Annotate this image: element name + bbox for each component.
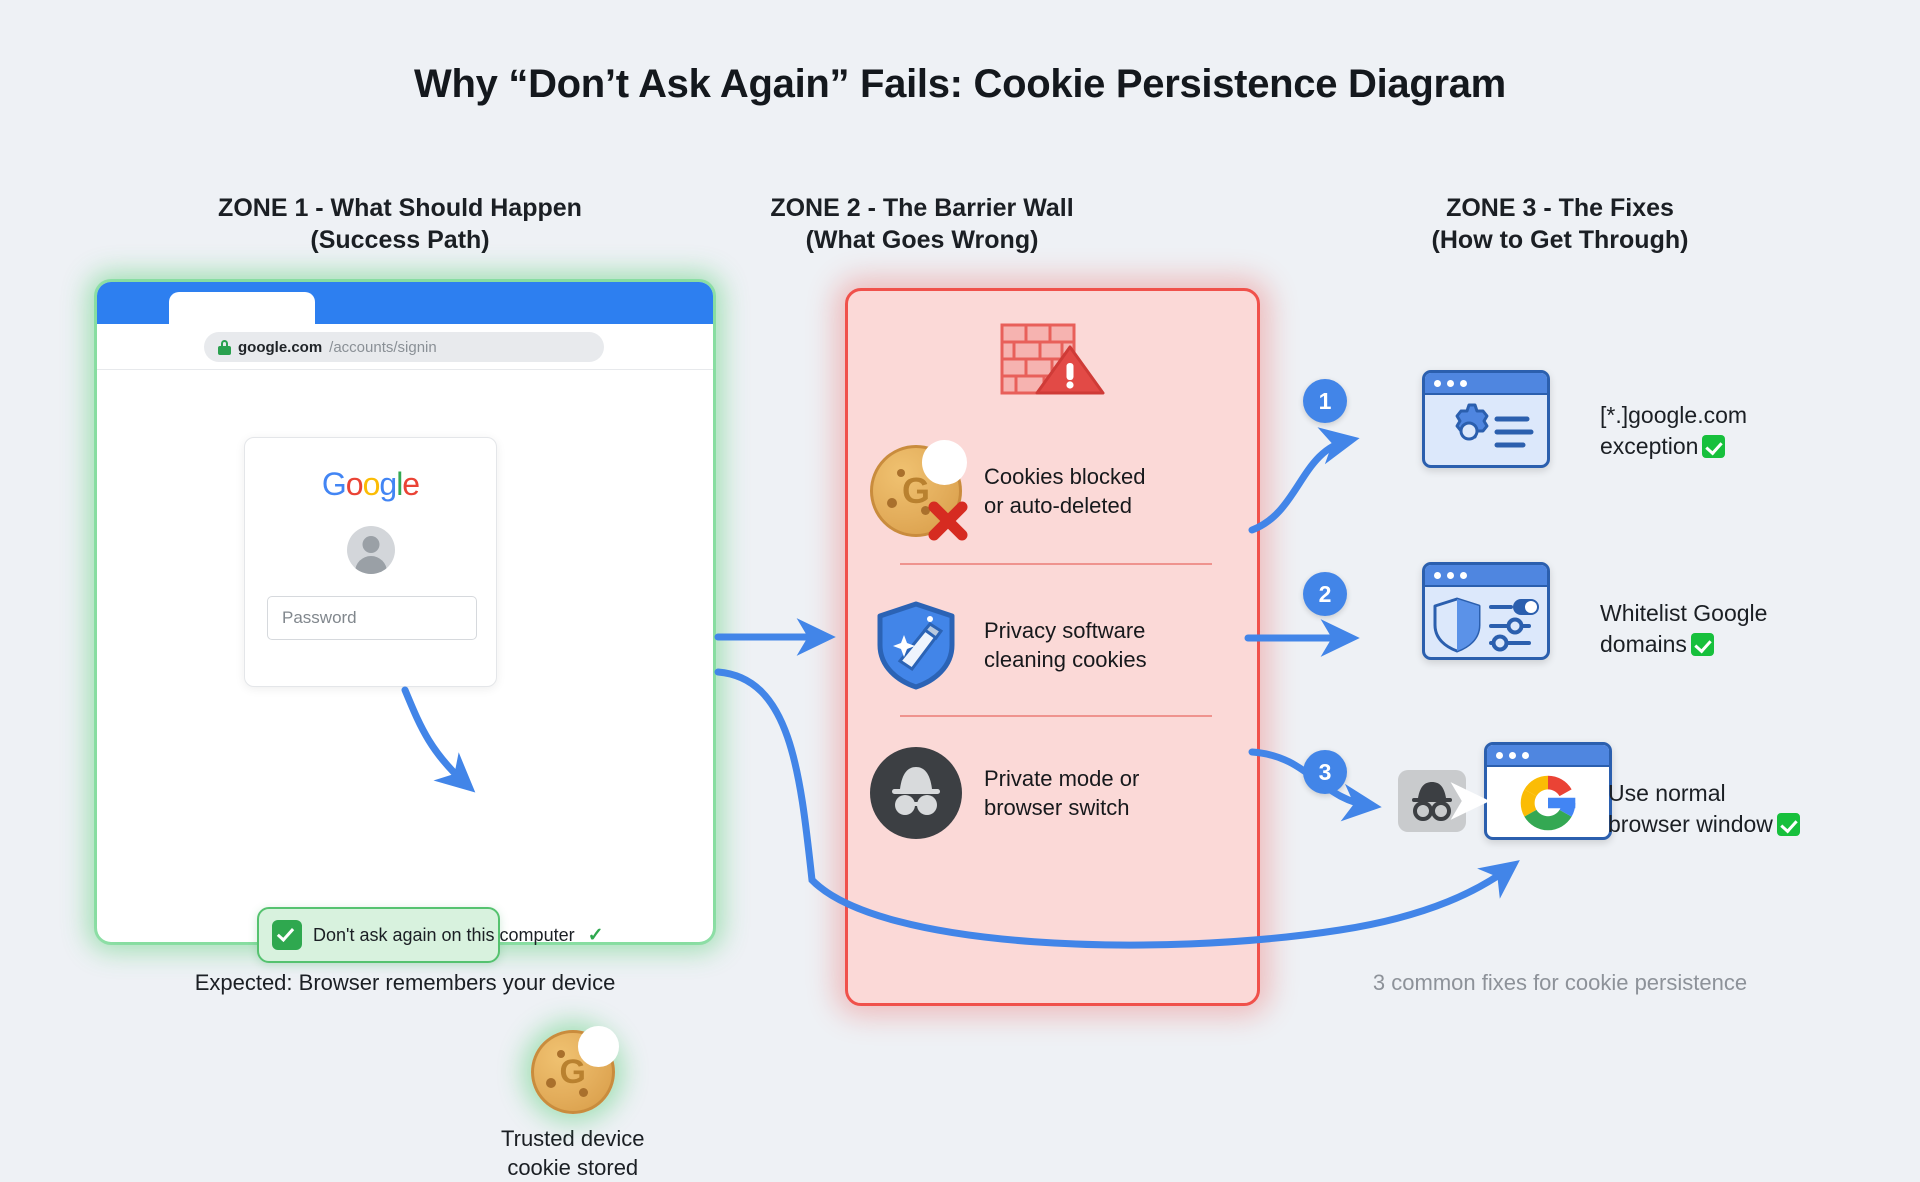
zone3-heading-line2: (How to Get Through) [1260, 224, 1860, 256]
barrier-item: Private mode or browser switch [870, 741, 1242, 845]
dont-ask-again-checkbox-row[interactable]: Don't ask again on this computer ✓ [257, 907, 500, 963]
barrier-label-line1: Cookies blocked [984, 462, 1145, 491]
cookie-icon: G [531, 1030, 615, 1114]
zone1-heading-line2: (Success Path) [100, 224, 700, 256]
avatar [347, 526, 395, 574]
zone3-footer-caption: 3 common fixes for cookie persistence [1260, 970, 1860, 996]
brick-wall-warning-icon [1000, 323, 1106, 401]
zone1-footer-caption: Expected: Browser remembers your device [97, 970, 713, 996]
fix-label-line1: [*.]google.com [1600, 400, 1747, 431]
check-mark-icon [1691, 633, 1714, 656]
barrier-label-line2: cleaning cookies [984, 645, 1147, 674]
browser-title-bar [97, 282, 713, 324]
fix-label-line2: domains [1600, 631, 1687, 657]
zone2-heading-line2: (What Goes Wrong) [712, 224, 1132, 256]
check-mark-icon [1702, 435, 1725, 458]
fix-label-line2: browser window [1608, 811, 1773, 837]
cookie-caption-line1: Trusted device [501, 1124, 644, 1153]
url-host: google.com [238, 339, 322, 356]
cookie-blocked-icon: G [870, 445, 962, 537]
zone2-heading-line1: ZONE 2 - The Barrier Wall [712, 192, 1132, 224]
lock-icon [218, 340, 231, 355]
zone2-heading: ZONE 2 - The Barrier Wall (What Goes Wro… [712, 192, 1132, 256]
diagram-canvas: Why “Don’t Ask Again” Fails: Cookie Pers… [0, 0, 1920, 1072]
cookie-letter: G [534, 1033, 612, 1111]
check-mark-icon [1777, 813, 1800, 836]
barrier-label-line1: Private mode or [984, 764, 1139, 793]
red-x-icon [926, 499, 970, 543]
barrier-divider [900, 715, 1212, 717]
window-title-bar [1425, 565, 1547, 587]
barrier-label: Cookies blocked or auto-deleted [984, 462, 1145, 521]
step-badge-1: 1 [1303, 379, 1347, 423]
browser-tab[interactable] [169, 292, 315, 324]
zone2-barrier-panel: G Cookies blocked or auto-deleted [845, 288, 1260, 1006]
fix-label-1: [*.]google.com exception [1600, 400, 1747, 462]
barrier-label: Private mode or browser switch [984, 764, 1139, 823]
fix-label-line1: Whitelist Google [1600, 598, 1767, 629]
url-bar[interactable]: google.com/accounts/signin [204, 332, 604, 362]
trusted-device-cookie-group: G Trusted device cookie stored [501, 1030, 644, 1182]
browser-toolbar: google.com/accounts/signin [97, 324, 713, 370]
barrier-item: G Cookies blocked or auto-deleted [870, 439, 1242, 543]
barrier-label-line1: Privacy software [984, 616, 1147, 645]
shield-toggles-window-icon [1422, 562, 1550, 660]
zone3-heading-line1: ZONE 3 - The Fixes [1260, 192, 1860, 224]
window-title-bar [1487, 745, 1609, 767]
zone3-heading: ZONE 3 - The Fixes (How to Get Through) [1260, 192, 1860, 256]
window-title-bar [1425, 373, 1547, 395]
dont-ask-again-checkbox[interactable] [272, 920, 302, 950]
barrier-divider [900, 563, 1212, 565]
step-badge-3: 3 [1303, 750, 1347, 794]
trusted-device-caption: Trusted device cookie stored [501, 1124, 644, 1182]
zone1-browser-window: google.com/accounts/signin Google Passwo… [97, 282, 713, 942]
barrier-label: Privacy software cleaning cookies [984, 616, 1147, 675]
barrier-label-line2: browser switch [984, 793, 1139, 822]
confirm-check-icon: ✓ [588, 924, 604, 947]
password-field[interactable]: Password [267, 596, 477, 640]
fix-label-2: Whitelist Google domains [1600, 598, 1767, 660]
incognito-chip-icon [1398, 770, 1466, 832]
zone1-heading: ZONE 1 - What Should Happen (Success Pat… [100, 192, 700, 256]
google-browser-window-icon [1484, 742, 1612, 840]
google-signin-card: Google Password [244, 437, 497, 687]
dont-ask-again-label: Don't ask again on this computer [313, 925, 575, 946]
barrier-item: Privacy software cleaning cookies [870, 593, 1242, 697]
cookie-caption-line2: cookie stored [501, 1153, 644, 1182]
url-path: /accounts/signin [329, 339, 437, 356]
fix-label-3: Use normal browser window [1608, 778, 1800, 840]
shield-broom-icon [870, 599, 962, 691]
step-badge-2: 2 [1303, 572, 1347, 616]
barrier-label-line2: or auto-deleted [984, 491, 1145, 520]
page-title: Why “Don’t Ask Again” Fails: Cookie Pers… [0, 62, 1920, 107]
fix-label-line2: exception [1600, 433, 1698, 459]
settings-window-icon [1422, 370, 1550, 468]
zone1-heading-line1: ZONE 1 - What Should Happen [100, 192, 700, 224]
fix-label-line1: Use normal [1608, 778, 1800, 809]
incognito-icon [870, 747, 962, 839]
google-logo: Google [245, 466, 496, 503]
